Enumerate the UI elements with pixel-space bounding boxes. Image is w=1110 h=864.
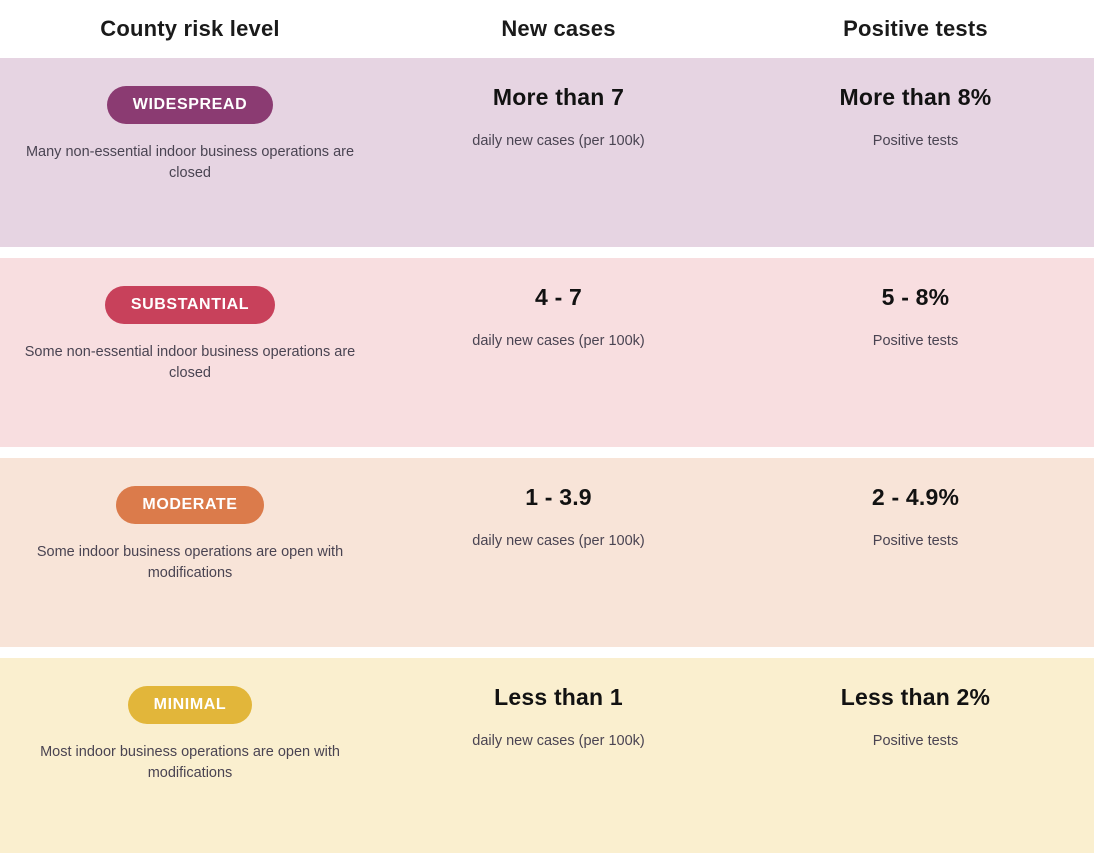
positive-tests-cell: 5 - 8% Positive tests (737, 258, 1094, 447)
new-cases-label: daily new cases (per 100k) (472, 533, 644, 549)
column-header-county-risk-level: County risk level (0, 16, 380, 42)
risk-level-description: Some non-essential indoor business opera… (18, 342, 363, 384)
positive-tests-value: More than 8% (840, 84, 992, 111)
risk-level-cell: MINIMAL Most indoor business operations … (0, 658, 380, 853)
positive-tests-value: 5 - 8% (882, 284, 950, 311)
risk-level-cell: MODERATE Some indoor business operations… (0, 458, 380, 647)
status-badge: MINIMAL (128, 686, 253, 724)
positive-tests-label: Positive tests (873, 533, 958, 549)
positive-tests-label: Positive tests (873, 133, 958, 149)
risk-level-description: Many non-essential indoor business opera… (18, 142, 363, 184)
table-row: WIDESPREAD Many non-essential indoor bus… (0, 58, 1094, 247)
new-cases-label: daily new cases (per 100k) (472, 133, 644, 149)
positive-tests-label: Positive tests (873, 733, 958, 749)
new-cases-value: 4 - 7 (535, 284, 582, 311)
table-row: SUBSTANTIAL Some non-essential indoor bu… (0, 258, 1094, 447)
column-header-positive-tests: Positive tests (737, 16, 1094, 42)
risk-level-cell: SUBSTANTIAL Some non-essential indoor bu… (0, 258, 380, 447)
status-badge: MODERATE (116, 486, 263, 524)
positive-tests-label: Positive tests (873, 333, 958, 349)
table-header-row: County risk level New cases Positive tes… (0, 0, 1094, 58)
table-row: MINIMAL Most indoor business operations … (0, 658, 1094, 853)
new-cases-cell: 4 - 7 daily new cases (per 100k) (380, 258, 737, 447)
new-cases-value: Less than 1 (494, 684, 623, 711)
new-cases-cell: 1 - 3.9 daily new cases (per 100k) (380, 458, 737, 647)
risk-level-cell: WIDESPREAD Many non-essential indoor bus… (0, 58, 380, 247)
positive-tests-cell: Less than 2% Positive tests (737, 658, 1094, 853)
table-row: MODERATE Some indoor business operations… (0, 458, 1094, 647)
status-badge: SUBSTANTIAL (105, 286, 275, 324)
new-cases-value: More than 7 (493, 84, 624, 111)
column-header-new-cases: New cases (380, 16, 737, 42)
new-cases-value: 1 - 3.9 (525, 484, 592, 511)
positive-tests-value: Less than 2% (841, 684, 990, 711)
risk-level-description: Some indoor business operations are open… (18, 542, 363, 584)
new-cases-cell: More than 7 daily new cases (per 100k) (380, 58, 737, 247)
risk-level-table: County risk level New cases Positive tes… (0, 0, 1110, 864)
positive-tests-cell: More than 8% Positive tests (737, 58, 1094, 247)
new-cases-label: daily new cases (per 100k) (472, 333, 644, 349)
status-badge: WIDESPREAD (107, 86, 273, 124)
new-cases-label: daily new cases (per 100k) (472, 733, 644, 749)
risk-level-description: Most indoor business operations are open… (18, 742, 363, 784)
positive-tests-cell: 2 - 4.9% Positive tests (737, 458, 1094, 647)
new-cases-cell: Less than 1 daily new cases (per 100k) (380, 658, 737, 853)
positive-tests-value: 2 - 4.9% (872, 484, 959, 511)
